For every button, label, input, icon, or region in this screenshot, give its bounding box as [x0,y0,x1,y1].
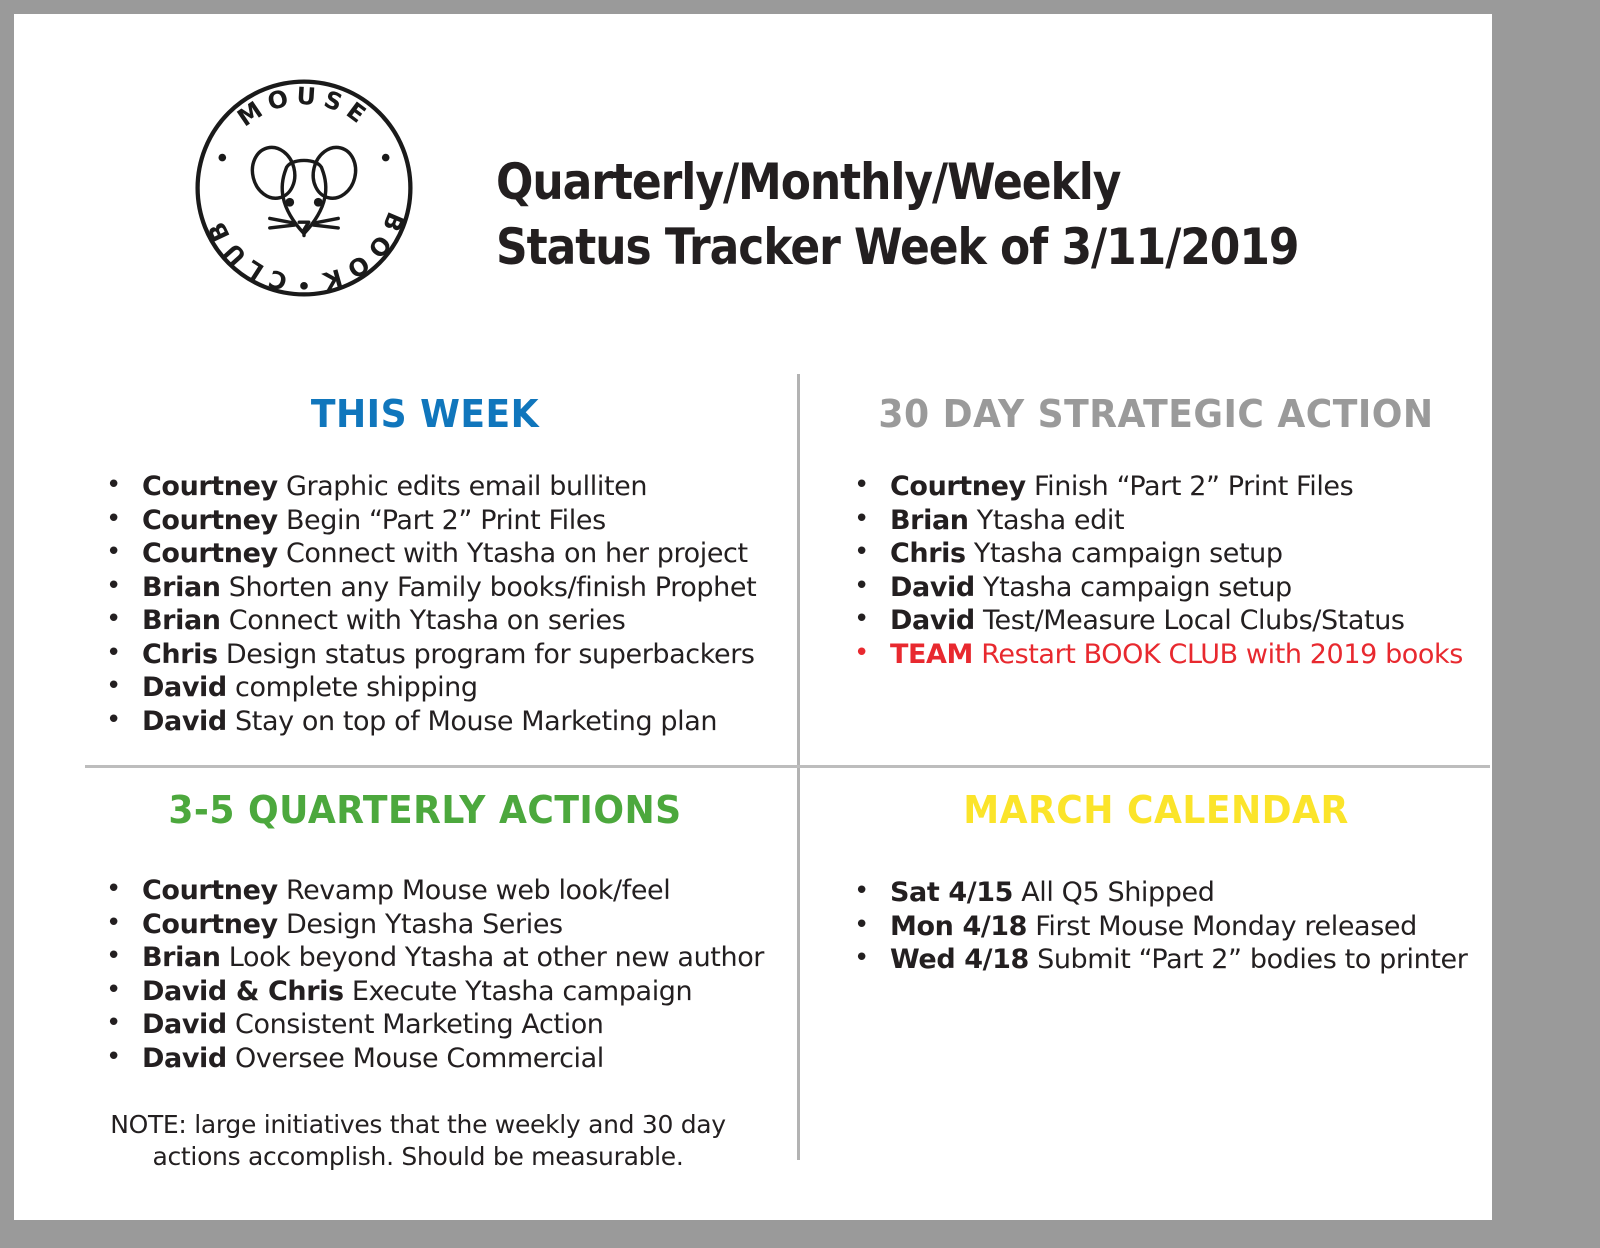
item-owner: Brian [142,605,221,636]
item-task: Connect with Ytasha on her project [286,538,748,569]
item-task: Test/Measure Local Clubs/Status [983,605,1405,636]
item-owner: Courtney [142,505,278,536]
list-item: Courtney Design Ytasha Series [92,908,780,942]
item-task: Begin “Part 2” Print Files [286,505,606,536]
status-tracker-page: MOUSE BOOK CLUB [14,14,1492,1220]
item-owner: Courtney [890,471,1026,502]
list-item: Courtney Revamp Mouse web look/feel [92,874,780,908]
section-quarterly-actions: 3-5 QUARTERLY ACTIONS Courtney Revamp Mo… [70,766,780,1173]
list-item: Chris Ytasha campaign setup [840,537,1486,571]
note-line-1: NOTE: large initiatives that the weekly … [110,1110,726,1139]
item-task: Ytasha campaign setup [974,538,1283,569]
item-owner: David [890,605,975,636]
section-heading-30-day: 30 DAY STRATEGIC ACTION [843,392,1470,436]
list-item: Courtney Connect with Ytasha on her proj… [92,537,780,571]
list-item-team-highlight: TEAM Restart BOOK CLUB with 2019 books [840,638,1486,672]
item-owner: David [142,706,227,737]
item-owner: Brian [142,572,221,603]
item-task: Execute Ytasha campaign [352,976,692,1007]
list-item: David Stay on top of Mouse Marketing pla… [92,705,780,739]
item-task: Ytasha edit [977,505,1124,536]
item-owner: Courtney [142,875,278,906]
title-line-1: Quarterly/Monthly/Weekly [496,150,1358,215]
item-task: First Mouse Monday released [1035,911,1417,942]
item-date: Mon 4/18 [890,911,1027,942]
item-date: Wed 4/18 [890,944,1029,975]
list-item: Courtney Graphic edits email bulliten [92,470,780,504]
item-task: Ytasha campaign setup [983,572,1292,603]
item-owner: Courtney [142,471,278,502]
list-item: David Consistent Marketing Action [92,1008,780,1042]
list-item: Sat 4/15 All Q5 Shipped [840,876,1486,910]
item-task: Design status program for superbackers [226,639,755,670]
list-item: Courtney Begin “Part 2” Print Files [92,504,780,538]
list-item: David complete shipping [92,671,780,705]
item-owner: David [890,572,975,603]
section-heading-march-calendar: MARCH CALENDAR [843,788,1470,832]
mouse-book-club-logo: MOUSE BOOK CLUB [190,74,418,302]
list-item: Wed 4/18 Submit “Part 2” bodies to print… [840,943,1486,977]
item-task: Shorten any Family books/finish Prophet [229,572,757,603]
item-task: Restart BOOK CLUB with 2019 books [981,639,1463,670]
item-task: Design Ytasha Series [286,909,563,940]
item-owner: Chris [142,639,218,670]
list-item: Chris Design status program for superbac… [92,638,780,672]
item-owner: Brian [142,942,221,973]
quarterly-list: Courtney Revamp Mouse web look/feel Cour… [92,874,780,1075]
item-owner: TEAM [890,639,973,670]
thirty-day-list: Courtney Finish “Part 2” Print Files Bri… [840,470,1486,671]
list-item: Courtney Finish “Part 2” Print Files [840,470,1486,504]
item-task: Consistent Marketing Action [235,1009,604,1040]
item-task: Stay on top of Mouse Marketing plan [235,706,717,737]
page-title: Quarterly/Monthly/Weekly Status Tracker … [496,150,1476,280]
title-line-2: Status Tracker Week of 3/11/2019 [496,215,1358,280]
section-heading-this-week: THIS WEEK [88,392,763,436]
item-owner: David [142,672,227,703]
quarterly-note: NOTE: large initiatives that the weekly … [88,1109,748,1173]
page-header: MOUSE BOOK CLUB [14,14,1492,344]
item-task: Oversee Mouse Commercial [235,1043,604,1074]
item-owner: Chris [890,538,966,569]
item-date: Sat 4/15 [890,877,1013,908]
this-week-list: Courtney Graphic edits email bulliten Co… [92,470,780,738]
section-this-week: THIS WEEK Courtney Graphic edits email b… [70,374,780,738]
list-item: David Oversee Mouse Commercial [92,1042,780,1076]
list-item: Brian Connect with Ytasha on series [92,604,780,638]
section-march-calendar: MARCH CALENDAR Sat 4/15 All Q5 Shipped M… [826,766,1486,977]
calendar-list: Sat 4/15 All Q5 Shipped Mon 4/18 First M… [840,876,1486,977]
list-item: Brian Shorten any Family books/finish Pr… [92,571,780,605]
list-item: David Test/Measure Local Clubs/Status [840,604,1486,638]
item-owner: David & Chris [142,976,344,1007]
note-line-2: actions accomplish. Should be measurable… [88,1141,748,1173]
svg-text:CLUB: CLUB [200,212,291,296]
item-task: complete shipping [235,672,478,703]
item-owner: David [142,1043,227,1074]
section-heading-quarterly: 3-5 QUARTERLY ACTIONS [88,788,763,832]
item-task: Connect with Ytasha on series [229,605,626,636]
item-owner: Courtney [142,538,278,569]
item-owner: Courtney [142,909,278,940]
list-item: David & Chris Execute Ytasha campaign [92,975,780,1009]
item-task: Finish “Part 2” Print Files [1034,471,1353,502]
list-item: Brian Ytasha edit [840,504,1486,538]
item-owner: David [142,1009,227,1040]
item-task: Revamp Mouse web look/feel [286,875,670,906]
item-task: Submit “Part 2” bodies to printer [1037,944,1467,975]
list-item: Mon 4/18 First Mouse Monday released [840,910,1486,944]
section-30-day-strategic-action: 30 DAY STRATEGIC ACTION Courtney Finish … [826,374,1486,671]
svg-text:MOUSE: MOUSE [232,82,376,133]
item-task: Look beyond Ytasha at other new author [229,942,764,973]
item-owner: Brian [890,505,969,536]
list-item: Brian Look beyond Ytasha at other new au… [92,941,780,975]
list-item: David Ytasha campaign setup [840,571,1486,605]
item-task: Graphic edits email bulliten [286,471,647,502]
item-task: All Q5 Shipped [1021,877,1214,908]
